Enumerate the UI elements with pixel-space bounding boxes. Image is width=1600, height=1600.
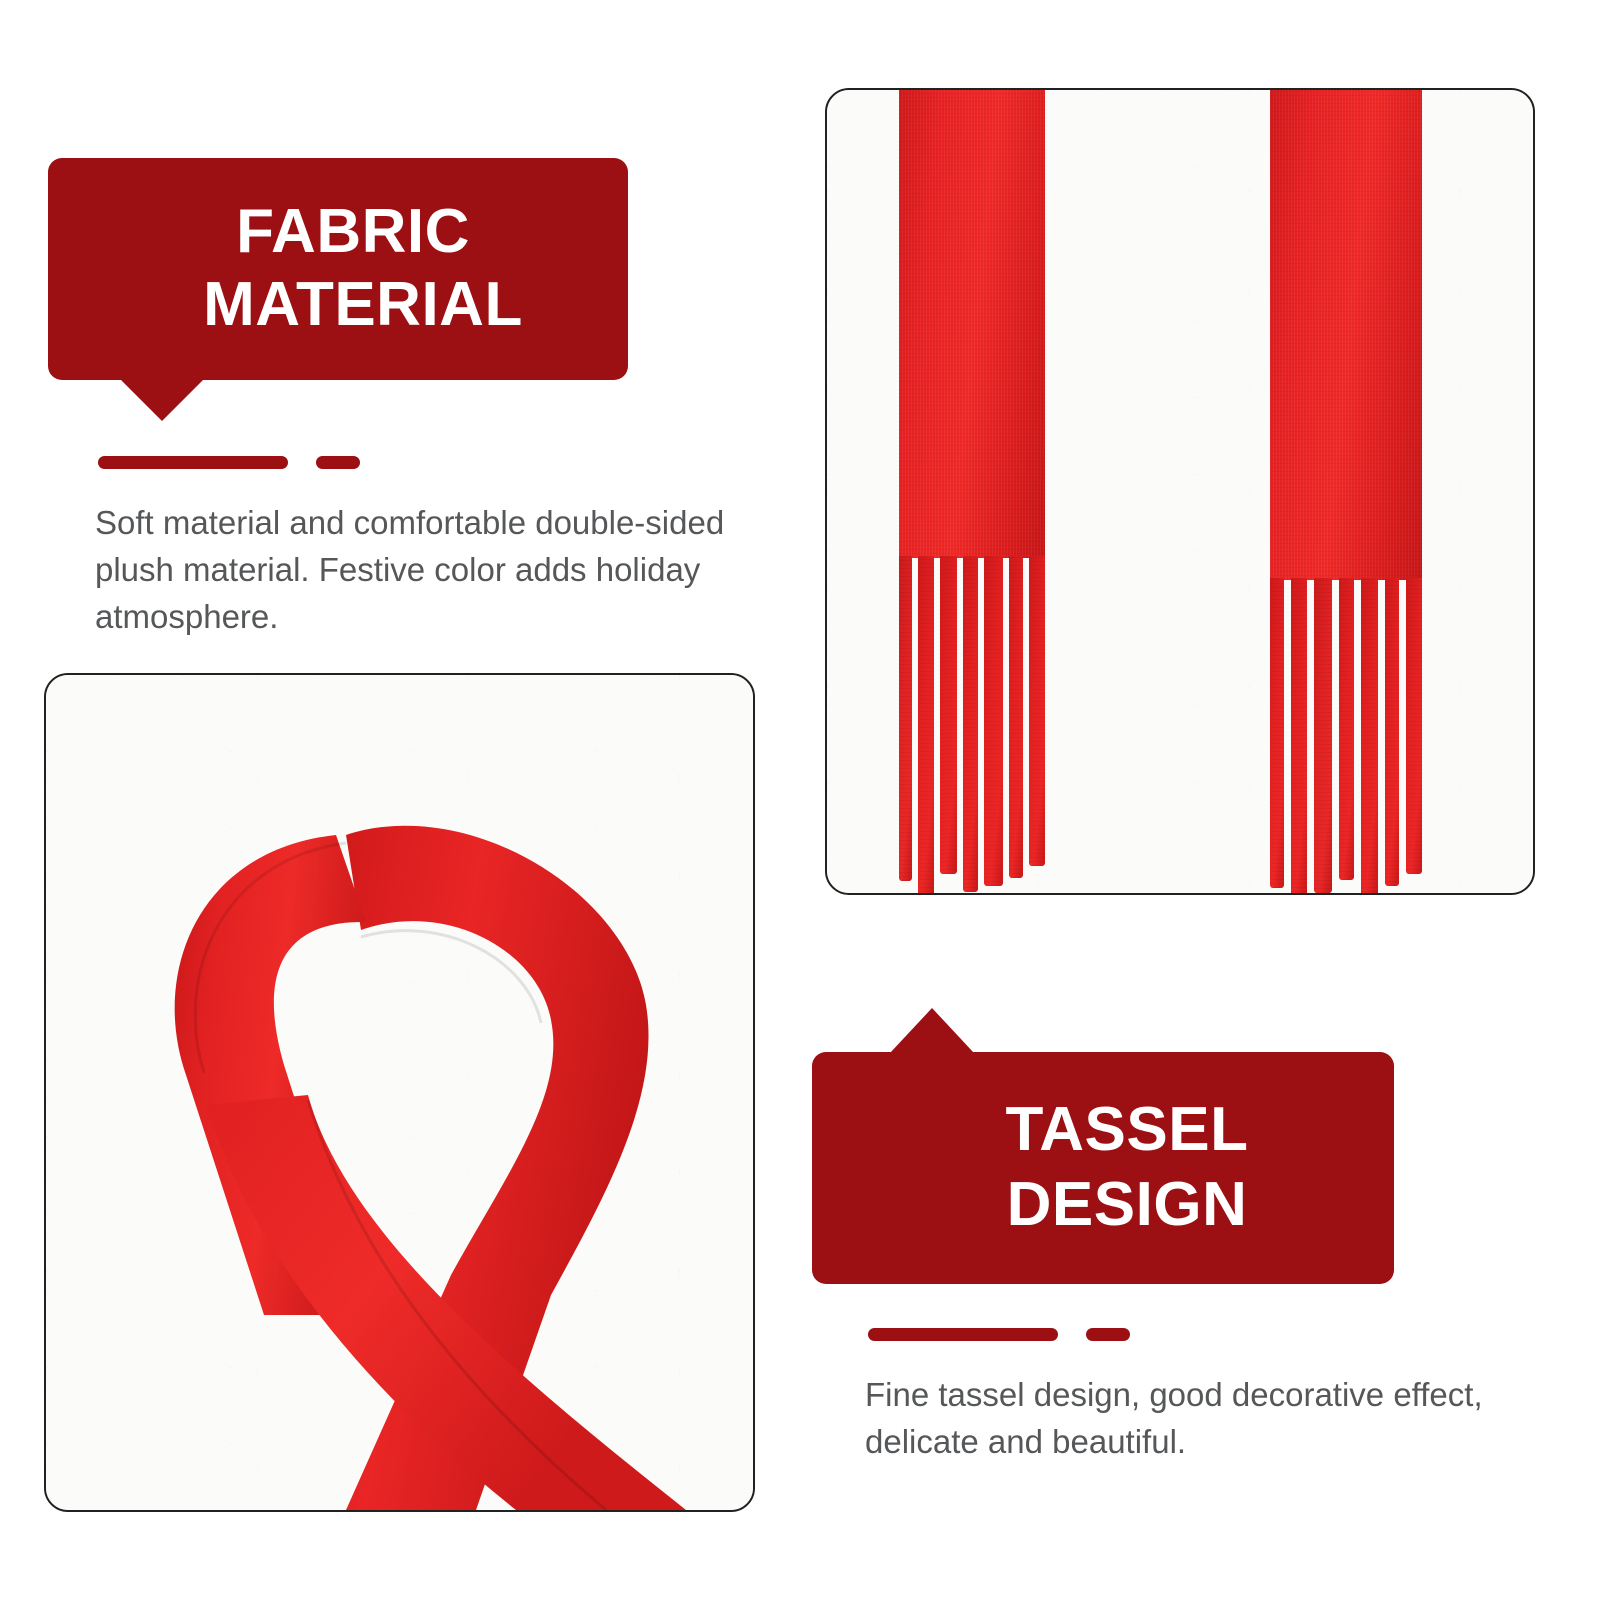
scarf-loop-illustration (46, 675, 753, 1510)
tassel-strand (940, 556, 957, 874)
tassel-strand (963, 556, 978, 892)
infographic-canvas: FABRIC MATERIAL Soft material and comfor… (0, 0, 1600, 1600)
tassel-strand (1361, 578, 1378, 895)
tassel-strand (1385, 578, 1399, 886)
tassel-strand (1406, 578, 1422, 874)
tassel-design-banner: TASSEL DESIGN (812, 1052, 1394, 1284)
scarf-band-right-body (1270, 88, 1422, 580)
tassel-banner-line-2: DESIGN (1007, 1172, 1248, 1239)
fabric-banner-line-1: FABRIC (236, 199, 470, 266)
scarf-band-right-fringe (1270, 578, 1422, 895)
tassel-photo-card: Two red plush scarf bands with cut fring… (825, 88, 1535, 895)
tassel-strand (1339, 578, 1354, 880)
tassel-design-description: Fine tassel design, good decorative effe… (865, 1372, 1565, 1466)
fabric-banner-tail-down-icon (120, 379, 204, 421)
fabric-material-description: Soft material and comfortable double-sid… (95, 500, 755, 641)
fabric-banner-line-2: MATERIAL (203, 272, 523, 339)
tassel-banner-tail-up-icon (890, 1008, 974, 1053)
tassel-strand (1029, 556, 1045, 866)
tassel-banner-line-1: TASSEL (1006, 1097, 1249, 1164)
tassel-strand (899, 556, 912, 881)
tassel-divider (868, 1328, 1130, 1341)
fabric-divider (98, 456, 360, 469)
tassel-strand (1291, 578, 1307, 895)
loop-photo-card: Red plush scarf looped and crossed over … (44, 673, 755, 1512)
scarf-band-right (1270, 88, 1422, 893)
fabric-material-banner: FABRIC MATERIAL (48, 158, 628, 380)
tassel-strand (984, 556, 1003, 886)
fabric-divider-long-dash (98, 456, 288, 469)
tassel-strand (918, 556, 934, 895)
scarf-band-left-body (899, 88, 1045, 558)
fabric-divider-short-dash (316, 456, 360, 469)
tassel-divider-short-dash (1086, 1328, 1130, 1341)
tassel-strand (1009, 556, 1023, 878)
tassel-divider-long-dash (868, 1328, 1058, 1341)
tassel-strand (1314, 578, 1332, 893)
scarf-band-left-fringe (899, 556, 1045, 895)
tassel-strand (1270, 578, 1284, 888)
scarf-band-left (899, 88, 1045, 893)
